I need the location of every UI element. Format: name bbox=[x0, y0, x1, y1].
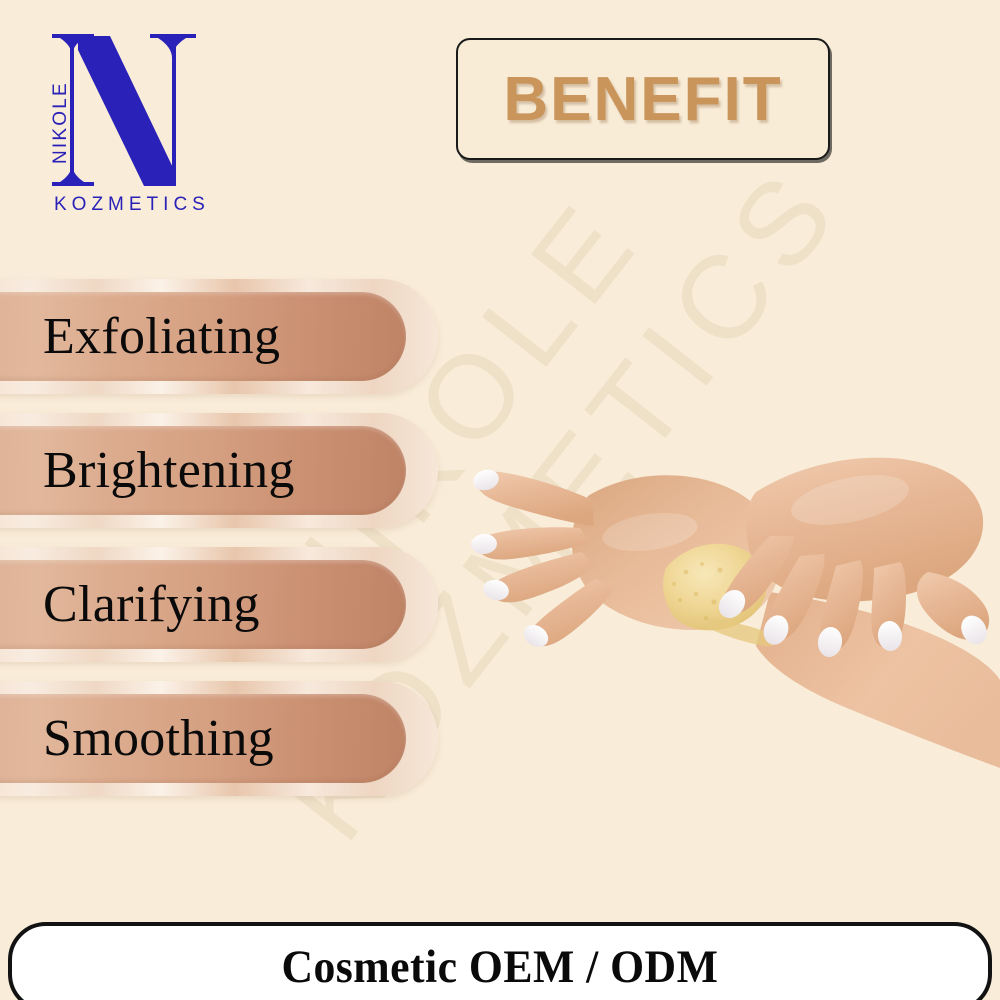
footer-banner: Cosmetic OEM / ODM bbox=[8, 922, 992, 1000]
pill-body: Brightening bbox=[0, 426, 406, 515]
footer-label: Cosmetic OEM / ODM bbox=[282, 940, 719, 994]
page-title: BENEFIT bbox=[503, 64, 782, 135]
pill-body: Exfoliating bbox=[0, 292, 406, 381]
benefit-title-box: BENEFIT bbox=[456, 38, 830, 160]
pill-body: Smoothing bbox=[0, 694, 406, 783]
svg-text:NIKOLE: NIKOLE bbox=[50, 81, 71, 164]
benefit-pill-smoothing: Smoothing bbox=[0, 681, 466, 796]
benefits-list: Exfoliating Brightening Clarifying Smoot… bbox=[0, 279, 466, 815]
svg-text:KOZMETICS: KOZMETICS bbox=[54, 194, 210, 214]
benefit-pill-exfoliating: Exfoliating bbox=[0, 279, 466, 394]
poster-canvas: NIKOLE KOZMETICS NIKOLE KOZMETICS bbox=[0, 0, 1000, 1000]
benefit-label: Clarifying bbox=[43, 579, 260, 631]
benefit-label: Brightening bbox=[43, 445, 295, 497]
benefit-pill-clarifying: Clarifying bbox=[0, 547, 466, 662]
product-photo bbox=[470, 300, 1000, 800]
benefit-label: Exfoliating bbox=[43, 311, 280, 363]
pill-body: Clarifying bbox=[0, 560, 406, 649]
benefit-pill-brightening: Brightening bbox=[0, 413, 466, 528]
benefit-label: Smoothing bbox=[43, 713, 274, 765]
brand-logo: NIKOLE KOZMETICS bbox=[26, 24, 210, 214]
